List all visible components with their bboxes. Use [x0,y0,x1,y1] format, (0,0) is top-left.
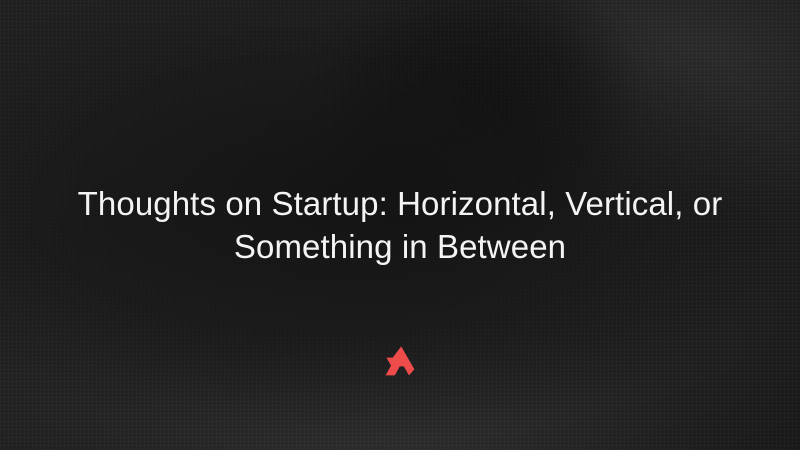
page-title: Thoughts on Startup: Horizontal, Vertica… [60,182,740,268]
card-content: Thoughts on Startup: Horizontal, Vertica… [0,0,800,450]
title-card: Thoughts on Startup: Horizontal, Vertica… [0,0,800,450]
page-title-line-1: Thoughts on Startup: Horizontal, Vertica… [60,182,740,225]
logo-container [0,345,800,377]
page-title-line-2: Something in Between [60,225,740,268]
anthropic-a-logo-icon [385,345,415,377]
